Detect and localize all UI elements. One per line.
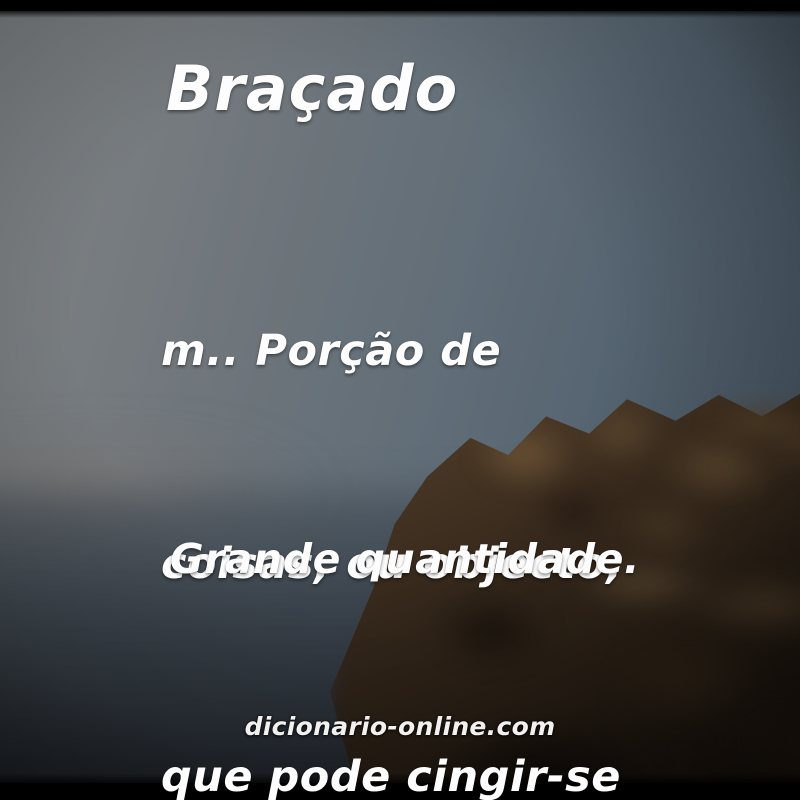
text-overlay: Braçado m.. Porção de coisas, ou objecto… xyxy=(0,0,800,800)
word-card: Braçado m.. Porção de coisas, ou objecto… xyxy=(0,0,800,800)
second-definition: Grande quantidade. xyxy=(170,533,640,585)
site-watermark: dicionario-online.com xyxy=(0,712,800,741)
definition-block: m.. Porção de coisas, ou objecto, que po… xyxy=(161,174,623,800)
word-title: Braçado xyxy=(166,58,458,120)
definition-line-3: que pode cingir-se xyxy=(161,742,623,800)
definition-line-1: m.. Porção de xyxy=(161,316,623,387)
